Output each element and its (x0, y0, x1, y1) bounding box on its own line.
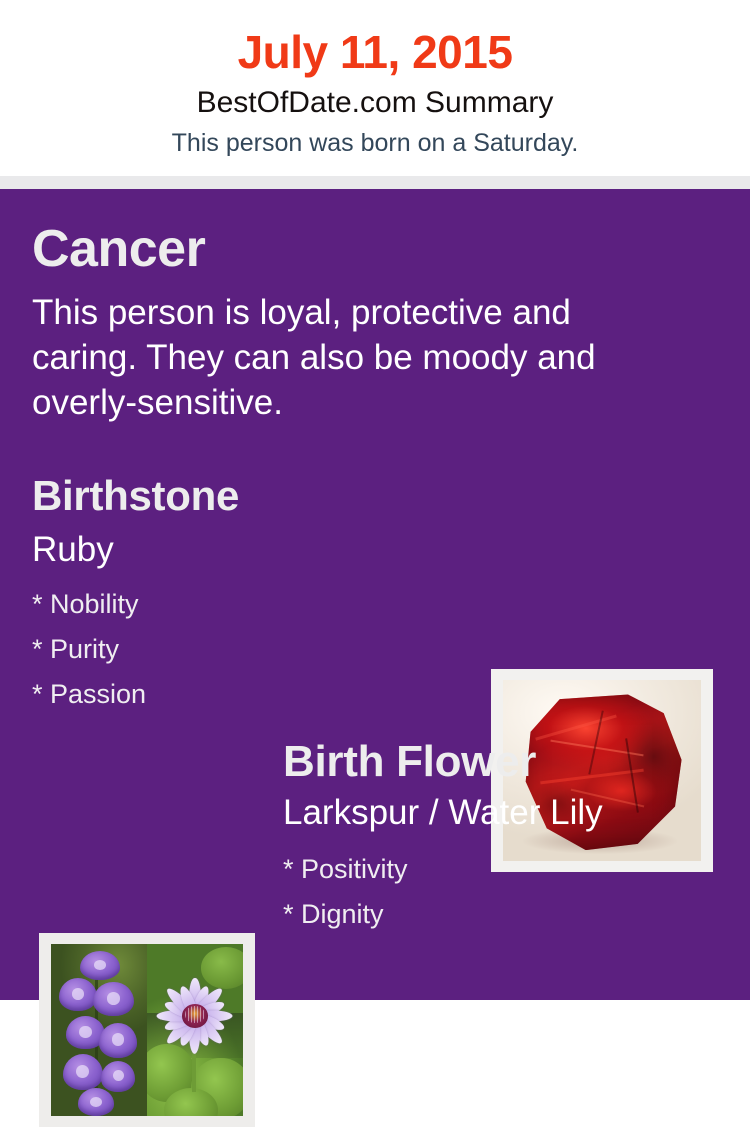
list-item: * Purity (32, 627, 452, 672)
day-of-week-line: This person was born on a Saturday. (0, 126, 750, 160)
list-item: * Positivity (283, 847, 703, 892)
birth-flower-name: Larkspur / Water Lily (283, 792, 603, 834)
flower-photo (51, 944, 243, 1116)
list-item: * Passion (32, 672, 452, 717)
site-summary-label: BestOfDate.com Summary (0, 84, 750, 122)
birthstone-trait-list: * Nobility * Purity * Passion (32, 582, 452, 717)
summary-card: July 11, 2015 BestOfDate.com Summary Thi… (0, 0, 750, 1000)
lily-bloom (160, 972, 229, 1051)
header-divider (0, 176, 750, 189)
birth-flower-heading: Birth Flower (283, 737, 536, 787)
water-lily-photo-icon (147, 944, 243, 1116)
details-panel: Cancer This person is loyal, protective … (0, 189, 750, 1000)
list-item: * Nobility (32, 582, 452, 627)
birth-flower-image-frame (39, 933, 255, 1127)
birthstone-heading: Birthstone (32, 472, 239, 520)
zodiac-description: This person is loyal, protective and car… (32, 290, 652, 425)
birth-flower-trait-list: * Positivity * Dignity (283, 847, 703, 937)
page-title-date: July 11, 2015 (0, 24, 750, 80)
list-item: * Dignity (283, 892, 703, 937)
zodiac-sign-title: Cancer (32, 220, 205, 278)
birthstone-name: Ruby (32, 529, 114, 571)
larkspur-photo-icon (51, 944, 147, 1116)
header: July 11, 2015 BestOfDate.com Summary Thi… (0, 0, 750, 176)
